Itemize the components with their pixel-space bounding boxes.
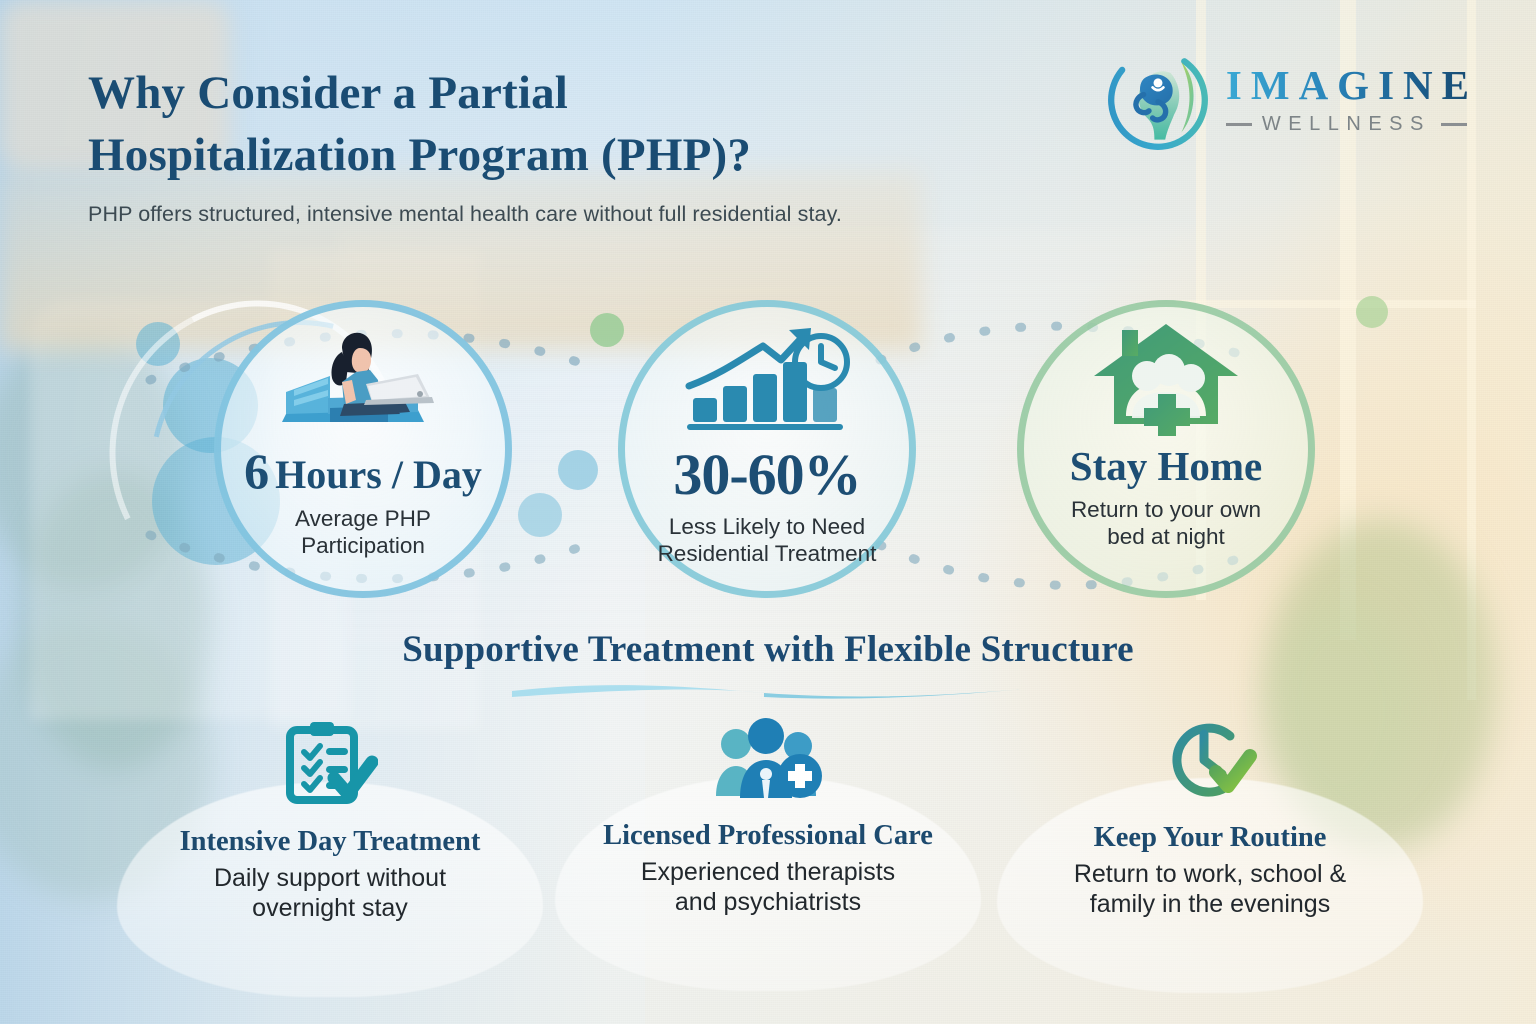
card-description: Experienced therapists and psychiatrists: [543, 857, 993, 917]
card-title: Keep Your Routine: [985, 822, 1435, 854]
stat-value: Stay Home: [1070, 446, 1262, 487]
stat-value: 6 Hours / Day: [244, 446, 482, 496]
section-title: Supportive Treatment with Flexible Struc…: [0, 628, 1536, 671]
stat-card-hours-per-day[interactable]: 6 Hours / Day Average PHP Participation: [214, 300, 512, 598]
brand-logo[interactable]: IMAGINE WELLNESS: [1104, 46, 1478, 154]
feature-card-intensive-day-treatment[interactable]: Intensive Day Treatment Daily support wi…: [105, 720, 555, 923]
logo-tagline: WELLNESS: [1262, 113, 1431, 136]
title-line-2: Hospitalization Program (PHP)?: [88, 124, 1088, 186]
stat-desc-line-1: Less Likely to Need: [658, 513, 877, 540]
logo-dash-right: [1441, 123, 1467, 126]
stat-card-stay-home[interactable]: Stay Home Return to your own bed at nigh…: [1017, 300, 1315, 598]
feature-cards: Intensive Day Treatment Daily support wi…: [0, 720, 1536, 1000]
people-group-medical-cross-icon: [543, 714, 993, 802]
header: Why Consider a Partial Hospitalization P…: [88, 62, 1088, 227]
stat-circles: 6 Hours / Day Average PHP Participation: [0, 290, 1536, 610]
stat-card-less-likely[interactable]: 30-60% Less Likely to Need Residential T…: [618, 300, 916, 598]
stat-desc-line-2: Residential Treatment: [658, 540, 877, 567]
woman-on-chaise-with-laptop-illustration: [268, 314, 458, 436]
brain-head-circle-icon: [1104, 46, 1212, 154]
wave-divider: [508, 677, 1028, 703]
stat-desc-line-1: Average PHP: [295, 505, 431, 532]
feature-card-keep-your-routine[interactable]: Keep Your Routine Return to work, school…: [985, 716, 1435, 919]
page-subtitle: PHP offers structured, intensive mental …: [88, 202, 1088, 227]
card-title: Licensed Professional Care: [543, 820, 993, 852]
title-line-1: Why Consider a Partial: [88, 62, 1088, 124]
card-desc-line-2: overnight stay: [105, 893, 555, 923]
section-header: Supportive Treatment with Flexible Struc…: [0, 628, 1536, 708]
card-desc-line-2: family in the evenings: [985, 889, 1435, 919]
stat-description: Return to your own bed at night: [1071, 496, 1261, 551]
logo-dash-left: [1226, 123, 1252, 126]
logo-tagline-row: WELLNESS: [1226, 113, 1478, 136]
page-title: Why Consider a Partial Hospitalization P…: [88, 62, 1088, 186]
stat-value-rest: Hours / Day: [275, 455, 482, 495]
card-description: Daily support without overnight stay: [105, 863, 555, 923]
stat-description: Less Likely to Need Residential Treatmen…: [658, 513, 877, 568]
stat-value-big: 6: [244, 446, 269, 496]
clipboard-checklist-checkmark-icon: [105, 720, 555, 808]
house-with-family-and-cross-icon: [1092, 314, 1240, 436]
bar-chart-growth-arrow-clock-icon: [681, 314, 853, 436]
stat-value: 30-60%: [673, 446, 860, 504]
logo-wordmark: IMAGINE WELLNESS: [1226, 64, 1478, 135]
stat-desc-line-2: bed at night: [1071, 523, 1261, 550]
card-desc-line-1: Experienced therapists: [543, 857, 993, 887]
clock-with-green-checkmark-icon: [985, 716, 1435, 804]
stat-desc-line-2: Participation: [295, 532, 431, 559]
stat-description: Average PHP Participation: [295, 505, 431, 560]
stat-desc-line-1: Return to your own: [1071, 496, 1261, 523]
card-desc-line-2: and psychiatrists: [543, 887, 993, 917]
logo-name: IMAGINE: [1226, 64, 1478, 107]
card-desc-line-1: Return to work, school &: [985, 859, 1435, 889]
feature-card-licensed-professional-care[interactable]: Licensed Professional Care Experienced t…: [543, 714, 993, 917]
card-title: Intensive Day Treatment: [105, 826, 555, 858]
card-description: Return to work, school & family in the e…: [985, 859, 1435, 919]
card-desc-line-1: Daily support without: [105, 863, 555, 893]
